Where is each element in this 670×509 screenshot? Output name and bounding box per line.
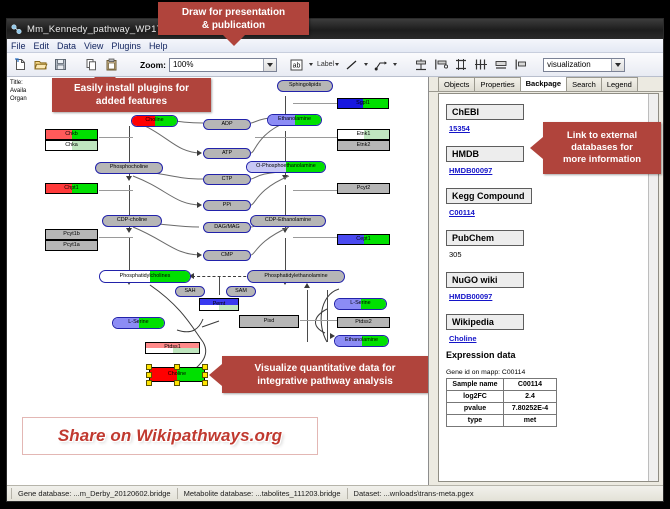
node-label: L-Serine bbox=[128, 320, 148, 325]
selection-handle[interactable] bbox=[202, 380, 208, 386]
node-pcyt1a[interactable]: Pcyt1a bbox=[45, 240, 98, 251]
node-pcyt1b[interactable]: Pcyt1b bbox=[45, 229, 98, 240]
table-row: pvalue 7.80252E-4 bbox=[447, 403, 557, 415]
chevron-down-icon[interactable] bbox=[263, 59, 276, 71]
node-label: Ptdss2 bbox=[355, 320, 371, 325]
node-l-serine-right[interactable]: L-Serine bbox=[334, 298, 387, 310]
selection-handle[interactable] bbox=[146, 380, 152, 386]
chevron-down-icon[interactable] bbox=[393, 63, 397, 66]
copy-icon[interactable] bbox=[83, 56, 100, 73]
node-label: Cept1 bbox=[356, 237, 370, 242]
toolbar-separator-3 bbox=[277, 56, 285, 73]
edge-cept-stub bbox=[293, 237, 339, 238]
stack-icon[interactable] bbox=[512, 56, 529, 73]
table-row: type met bbox=[447, 415, 557, 427]
callout-link-line1: Link to external bbox=[567, 130, 637, 142]
node-label: Chka bbox=[65, 143, 78, 148]
node-sgpl1[interactable]: Sgpl1 bbox=[337, 98, 389, 109]
callout-draw-line1: Draw for presentation bbox=[182, 6, 285, 19]
node-phosphatidylethanolamine[interactable]: Phosphatidylethanolamine bbox=[247, 270, 345, 283]
arrow-icon bbox=[282, 175, 288, 180]
tab-properties[interactable]: Properties bbox=[474, 77, 520, 91]
edge-pcyt2-stub bbox=[293, 190, 339, 191]
edge-sgpl-stub bbox=[293, 103, 339, 104]
chevron-down-icon[interactable] bbox=[364, 63, 368, 66]
arrow-icon bbox=[282, 228, 288, 233]
node-label: L-Serine bbox=[350, 301, 370, 306]
edge-chpt-stub bbox=[99, 190, 133, 191]
new-file-icon[interactable] bbox=[12, 56, 29, 73]
tab-legend[interactable]: Legend bbox=[601, 77, 638, 91]
chevron-down-icon[interactable] bbox=[335, 63, 339, 66]
edge-pcyt-stub bbox=[99, 237, 133, 238]
edge-chk-stub bbox=[99, 137, 133, 138]
info-title-line: Title: bbox=[10, 79, 27, 87]
selection-handle[interactable] bbox=[174, 380, 180, 386]
node-label: SAH bbox=[184, 289, 195, 294]
node-label: ADP bbox=[221, 122, 232, 127]
zoom-value: 100% bbox=[173, 60, 193, 69]
node-ptdss1[interactable]: Ptdss1 bbox=[145, 342, 200, 354]
align-top-icon[interactable] bbox=[412, 56, 429, 73]
status-gene-database: Gene database: ...m_Derby_20120602.bridg… bbox=[11, 488, 177, 499]
node-label: Phosphatidylcholines bbox=[120, 274, 171, 279]
group-icon[interactable] bbox=[492, 56, 509, 73]
visualization-value: visualization bbox=[547, 60, 591, 69]
edge-pe-down2 bbox=[327, 290, 328, 342]
edge-pisd-stub bbox=[300, 320, 338, 321]
node-label: Etnk1 bbox=[357, 132, 371, 137]
arrow-icon bbox=[126, 228, 132, 233]
expression-table: Sample name C00114 log2FC 2.4 pvalue 7.8… bbox=[446, 378, 557, 427]
save-icon[interactable] bbox=[52, 56, 69, 73]
db-header-nugo: NuGO wiki bbox=[446, 272, 524, 288]
chevron-down-icon[interactable] bbox=[309, 63, 313, 66]
edge-pemt-up bbox=[219, 277, 220, 295]
callout-plugins-line2: added features bbox=[96, 95, 167, 108]
toolbar-separator-5 bbox=[532, 56, 540, 73]
arrow-icon bbox=[197, 252, 202, 258]
node-ethanolamine-top[interactable]: Ethanolamine bbox=[267, 114, 322, 126]
node-label: Etnk2 bbox=[357, 143, 371, 148]
db-link-wikipedia[interactable]: Choline bbox=[449, 334, 656, 343]
node-pemt[interactable]: Pemt bbox=[199, 298, 239, 311]
node-label: CDP-Ethanolamine bbox=[265, 218, 311, 223]
db-header-hmdb: HMDB bbox=[446, 146, 524, 162]
node-label: CMP bbox=[221, 253, 233, 258]
node-phosphocholine[interactable]: Phosphocholine bbox=[95, 162, 163, 174]
share-banner-text: Share on Wikipathways.org bbox=[58, 426, 282, 446]
node-label: Pisd bbox=[264, 319, 275, 324]
interaction-icon[interactable] bbox=[372, 56, 389, 73]
menu-data[interactable]: Data bbox=[57, 41, 76, 51]
node-chkb[interactable]: Chkb bbox=[45, 129, 98, 140]
expr-key-pvalue: pvalue bbox=[447, 403, 504, 415]
toolbar-separator-2 bbox=[123, 56, 131, 73]
node-adp[interactable]: ADP bbox=[203, 119, 251, 130]
pathway-info-block: Title: Availa Organ bbox=[10, 79, 27, 103]
node-label: Pcyt1b bbox=[63, 232, 79, 237]
side-panel-tabs: Objects Properties Backpage Search Legen… bbox=[429, 77, 663, 92]
callout-draw: Draw for presentation & publication bbox=[158, 2, 309, 35]
node-dag-mag[interactable]: DAG/MAG bbox=[203, 222, 251, 233]
expr-key-type: type bbox=[447, 415, 504, 427]
node-ppi[interactable]: PPi bbox=[203, 200, 251, 211]
tool-bar: Zoom: 100% ab Label bbox=[7, 53, 663, 77]
node-chpt1[interactable]: Chpt1 bbox=[45, 183, 98, 194]
pathvisio-icon bbox=[11, 24, 22, 35]
callout-draw-line2: & publication bbox=[202, 19, 265, 32]
node-label: DAG/MAG bbox=[214, 225, 239, 230]
node-phosphatidylcholines[interactable]: Phosphatidylcholines bbox=[99, 270, 191, 283]
svg-text:ab: ab bbox=[293, 62, 301, 69]
application-window: Mm_Kennedy_pathway_WP1771_45176.gpml Fil… bbox=[6, 18, 664, 502]
node-label: Chkb bbox=[65, 132, 78, 137]
node-label: ATP bbox=[222, 151, 232, 156]
db-link-kegg[interactable]: C00114 bbox=[449, 208, 656, 217]
db-value-pubchem: 305 bbox=[449, 250, 656, 259]
node-ptdss2[interactable]: Ptdss2 bbox=[337, 317, 390, 328]
share-banner: Share on Wikipathways.org bbox=[22, 417, 318, 455]
chevron-down-icon[interactable] bbox=[611, 59, 624, 71]
info-available-line: Availa bbox=[10, 87, 27, 95]
node-label: Choline bbox=[145, 118, 163, 123]
tab-search[interactable]: Search bbox=[566, 77, 602, 91]
expr-value-type: met bbox=[504, 415, 557, 427]
info-organism-line: Organ bbox=[10, 95, 27, 103]
callout-visualize: Visualize quantitative data for integrat… bbox=[222, 356, 428, 393]
node-cdp-choline[interactable]: CDP-choline bbox=[102, 215, 162, 227]
status-bar: Gene database: ...m_Derby_20120602.bridg… bbox=[7, 485, 663, 501]
node-label: Ethanolamine bbox=[278, 117, 311, 122]
node-label: Pcyt1a bbox=[63, 243, 79, 248]
node-label: Choline bbox=[168, 372, 186, 377]
node-label: Sgpl1 bbox=[356, 101, 370, 106]
db-link-nugo[interactable]: HMDB00097 bbox=[449, 292, 656, 301]
align-left-icon[interactable] bbox=[432, 56, 449, 73]
status-dataset: Dataset: ...wnloads\trans-meta.pgex bbox=[347, 488, 480, 499]
callout-plugins: Easily install plugins for added feature… bbox=[52, 78, 211, 112]
callout-visualize-line2: integrative pathway analysis bbox=[257, 375, 393, 388]
expr-value-log2fc: 2.4 bbox=[504, 391, 557, 403]
arrow-icon bbox=[126, 176, 132, 181]
expr-value-sample-name: C00114 bbox=[504, 379, 557, 391]
edge-etnk-stub bbox=[255, 137, 339, 138]
node-ctp[interactable]: CTP bbox=[203, 174, 251, 185]
arrow-icon bbox=[197, 202, 202, 208]
db-header-pubchem: PubChem bbox=[446, 230, 524, 246]
node-label: Ethanolamine bbox=[345, 338, 378, 343]
node-label: Phosphatidylethanolamine bbox=[264, 274, 327, 279]
node-label: CDP-choline bbox=[117, 218, 147, 223]
node-choline-top[interactable]: Choline bbox=[131, 115, 178, 127]
menu-bar: File Edit Data View Plugins Help bbox=[7, 39, 663, 53]
selection-handle[interactable] bbox=[202, 372, 208, 378]
node-label: SAM bbox=[235, 289, 247, 294]
node-label: Sphingolipids bbox=[289, 83, 321, 88]
callout-visualize-line1: Visualize quantitative data for bbox=[255, 362, 396, 375]
table-row: Sample name C00114 bbox=[447, 379, 557, 391]
db-header-chebi: ChEBI bbox=[446, 104, 524, 120]
node-atp[interactable]: ATP bbox=[203, 148, 251, 159]
expr-value-pvalue: 7.80252E-4 bbox=[504, 403, 557, 415]
line-icon[interactable] bbox=[343, 56, 360, 73]
menu-help[interactable]: Help bbox=[149, 41, 168, 51]
menu-plugins[interactable]: Plugins bbox=[111, 41, 141, 51]
node-label: CTP bbox=[222, 177, 233, 182]
menu-edit[interactable]: Edit bbox=[34, 41, 50, 51]
zoom-label: Zoom: bbox=[140, 60, 166, 70]
node-sah[interactable]: SAH bbox=[175, 286, 205, 297]
callout-tail-icon bbox=[530, 137, 543, 159]
selection-handle[interactable] bbox=[146, 364, 152, 370]
tab-backpage[interactable]: Backpage bbox=[520, 77, 567, 91]
toolbar-separator-4 bbox=[401, 56, 409, 73]
node-label: Chpt1 bbox=[64, 186, 78, 191]
node-chka[interactable]: Chka bbox=[45, 140, 98, 151]
callout-link-databases: Link to external databases for more info… bbox=[543, 122, 661, 174]
zoom-combobox[interactable]: 100% bbox=[169, 58, 277, 72]
node-ethanolamine-right[interactable]: Ethanolamine bbox=[334, 335, 389, 347]
node-label: Ptdss1 bbox=[164, 345, 180, 350]
callout-tail-icon bbox=[209, 364, 222, 386]
tab-objects[interactable]: Objects bbox=[438, 77, 475, 91]
paste-icon[interactable] bbox=[103, 56, 120, 73]
status-metabolite-database: Metabolite database: ...tabolites_111203… bbox=[177, 488, 347, 499]
label-dropdown-label[interactable]: Label bbox=[317, 61, 334, 68]
gene-id-label: Gene id on mapp: C00114 bbox=[446, 369, 656, 376]
node-label: O-Phosphoethanolamine bbox=[256, 164, 316, 169]
menu-view[interactable]: View bbox=[84, 41, 103, 51]
callout-plugins-line1: Easily install plugins for bbox=[74, 82, 189, 95]
open-folder-icon[interactable] bbox=[32, 56, 49, 73]
node-etnk2[interactable]: Etnk2 bbox=[337, 140, 390, 151]
toolbar-separator-1 bbox=[72, 56, 80, 73]
selection-handle[interactable] bbox=[146, 372, 152, 378]
node-cdp-ethanolamine[interactable]: CDP-Ethanolamine bbox=[250, 215, 326, 227]
expression-data-title: Expression data bbox=[446, 350, 656, 360]
callout-link-line2: databases for bbox=[571, 142, 633, 154]
node-pisd[interactable]: Pisd bbox=[239, 315, 299, 328]
expr-key-log2fc: log2FC bbox=[447, 391, 504, 403]
text-box-icon[interactable]: ab bbox=[288, 56, 305, 73]
node-o-phosphoethanolamine[interactable]: O-Phosphoethanolamine bbox=[246, 161, 326, 173]
node-label: Pemt bbox=[213, 302, 226, 307]
node-etnk1[interactable]: Etnk1 bbox=[337, 129, 390, 140]
callout-tail-icon bbox=[223, 35, 245, 46]
title-bar: Mm_Kennedy_pathway_WP1771_45176.gpml bbox=[7, 19, 663, 39]
selection-handle[interactable] bbox=[174, 364, 180, 370]
selection-handle[interactable] bbox=[202, 364, 208, 370]
table-row: log2FC 2.4 bbox=[447, 391, 557, 403]
node-label: Phosphocholine bbox=[110, 165, 148, 170]
callout-tail-icon bbox=[94, 77, 116, 78]
node-sphingolipids[interactable]: Sphingolipids bbox=[277, 80, 333, 92]
node-cept1[interactable]: Cept1 bbox=[337, 234, 390, 245]
distribute-horizontal-icon[interactable] bbox=[472, 56, 489, 73]
distribute-vertical-icon[interactable] bbox=[452, 56, 469, 73]
node-sam[interactable]: SAM bbox=[226, 286, 256, 297]
visualization-combobox[interactable]: visualization bbox=[543, 58, 625, 72]
arrow-icon bbox=[197, 150, 202, 156]
pathway-canvas[interactable]: Title: Availa Organ bbox=[7, 77, 429, 485]
node-label: Pcyt2 bbox=[357, 186, 370, 191]
menu-file[interactable]: File bbox=[11, 41, 26, 51]
node-l-serine-left[interactable]: L-Serine bbox=[112, 317, 165, 329]
arrow-icon bbox=[304, 283, 310, 288]
edge-pe-down bbox=[307, 290, 308, 342]
node-pcyt2[interactable]: Pcyt2 bbox=[337, 183, 390, 194]
node-cmp[interactable]: CMP bbox=[203, 250, 251, 261]
expr-key-sample-name: Sample name bbox=[447, 379, 504, 391]
db-header-wikipedia: Wikipedia bbox=[446, 314, 524, 330]
node-label: PPi bbox=[223, 203, 231, 208]
db-header-kegg: Kegg Compound bbox=[446, 188, 532, 204]
callout-link-line3: more information bbox=[563, 154, 641, 166]
